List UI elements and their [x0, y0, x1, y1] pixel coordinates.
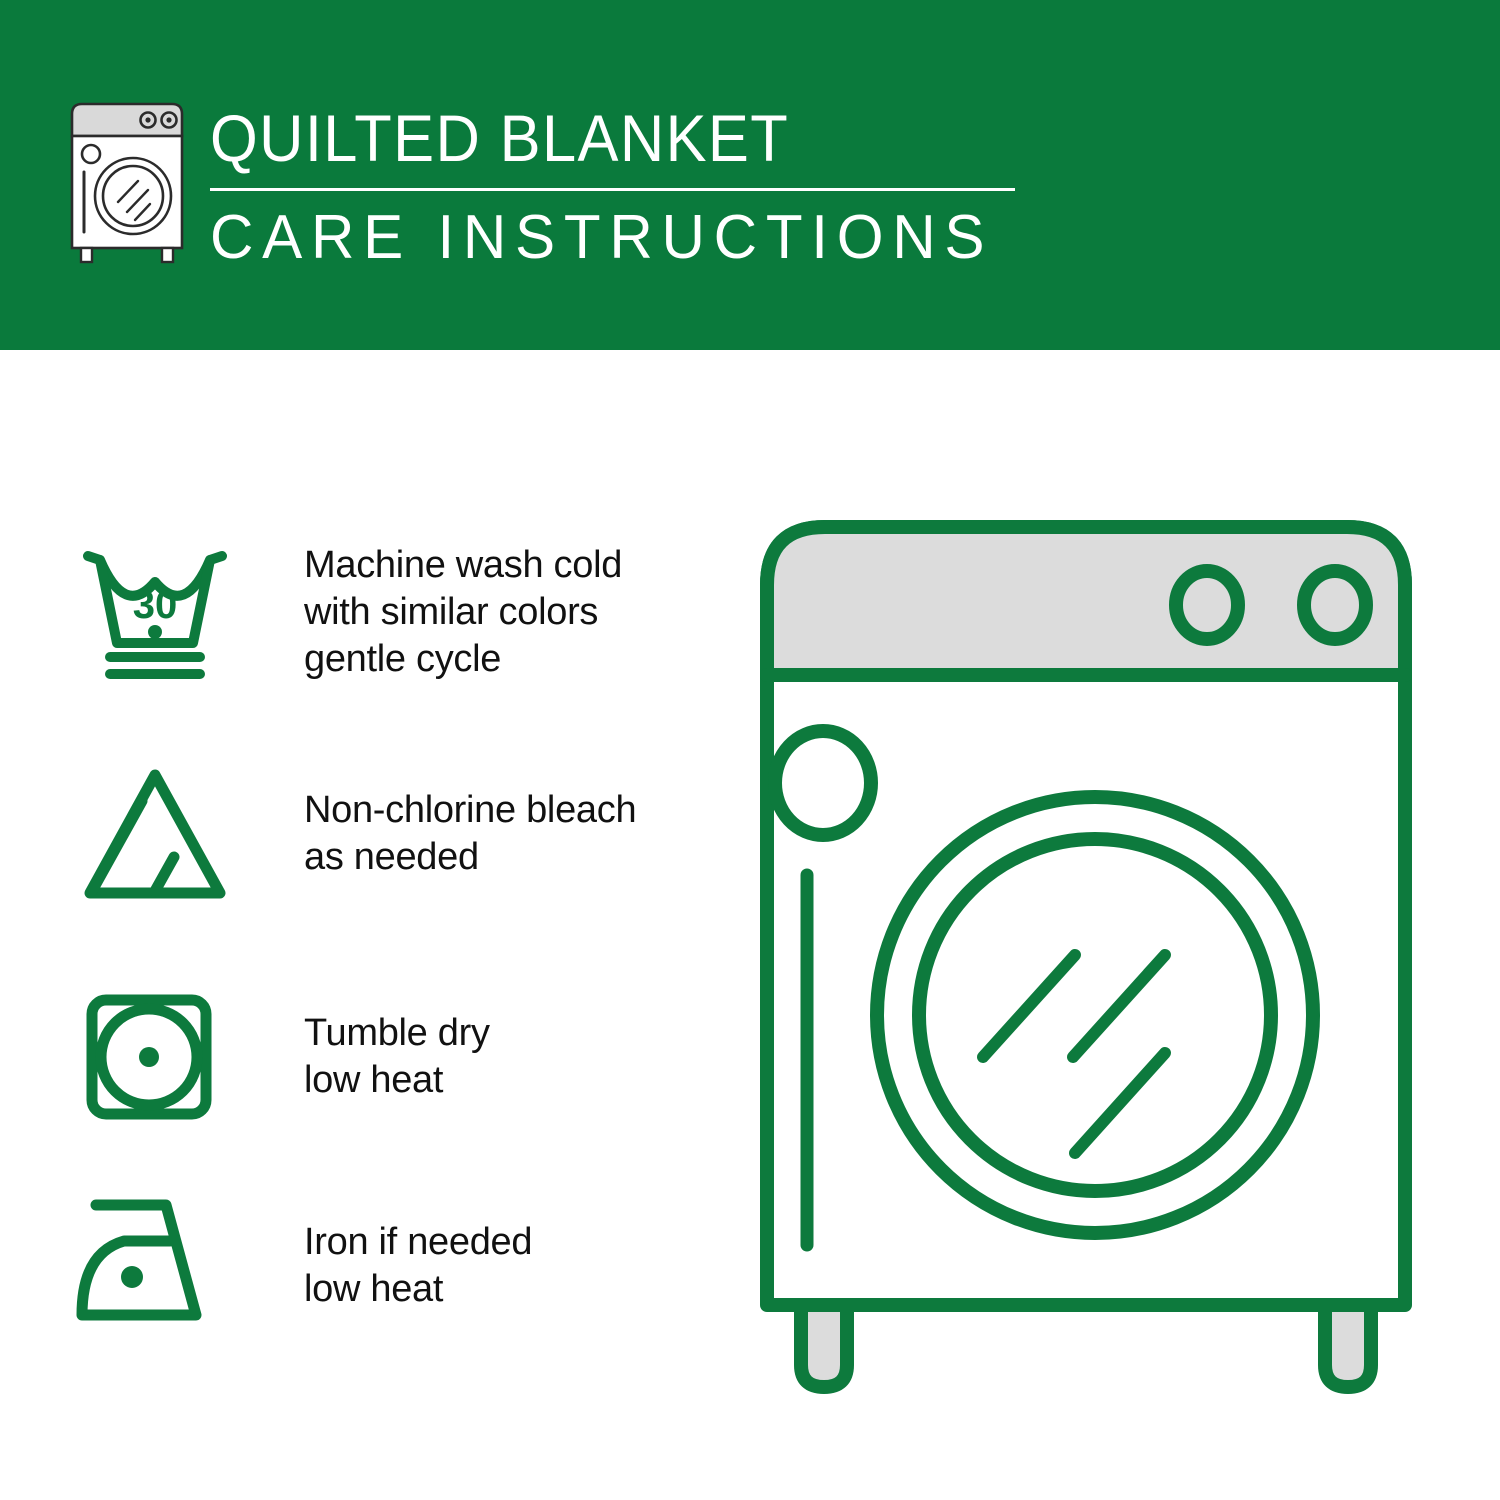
care-item-label: Iron if needed low heat: [304, 1219, 532, 1313]
page-subtitle: CARE INSTRUCTIONS: [210, 203, 993, 273]
care-instructions-list: 30 Machine wash cold with similar colors…: [70, 505, 720, 1366]
care-item-label: Machine wash cold with similar colors ge…: [304, 542, 622, 683]
care-item-bleach: Non-chlorine bleach as needed: [70, 720, 720, 948]
machine-wash-tub-icon: 30: [70, 538, 240, 688]
wash-temperature-value: 30: [133, 583, 178, 627]
care-item-machine-wash: 30 Machine wash cold with similar colors…: [70, 505, 720, 720]
header-content: QUILTED BLANKET CARE INSTRUCTIONS: [62, 96, 1017, 273]
care-item-iron: Iron if needed low heat: [70, 1166, 720, 1366]
care-item-tumble-dry: Tumble dry low heat: [70, 948, 720, 1166]
care-item-label: Non-chlorine bleach as needed: [304, 787, 636, 881]
care-item-label: Tumble dry low heat: [304, 1010, 490, 1104]
tumble-dry-icon: [70, 982, 240, 1132]
page-header: QUILTED BLANKET CARE INSTRUCTIONS: [0, 0, 1500, 350]
title-divider-rule: [210, 188, 1015, 191]
page-title: QUILTED BLANKET: [210, 102, 961, 174]
iron-icon: [70, 1191, 240, 1341]
non-chlorine-bleach-triangle-icon: [70, 759, 240, 909]
washing-machine-icon: [62, 96, 192, 268]
header-title-block: QUILTED BLANKET CARE INSTRUCTIONS: [210, 96, 1017, 273]
front-load-washing-machine-illustration: [745, 505, 1445, 1415]
